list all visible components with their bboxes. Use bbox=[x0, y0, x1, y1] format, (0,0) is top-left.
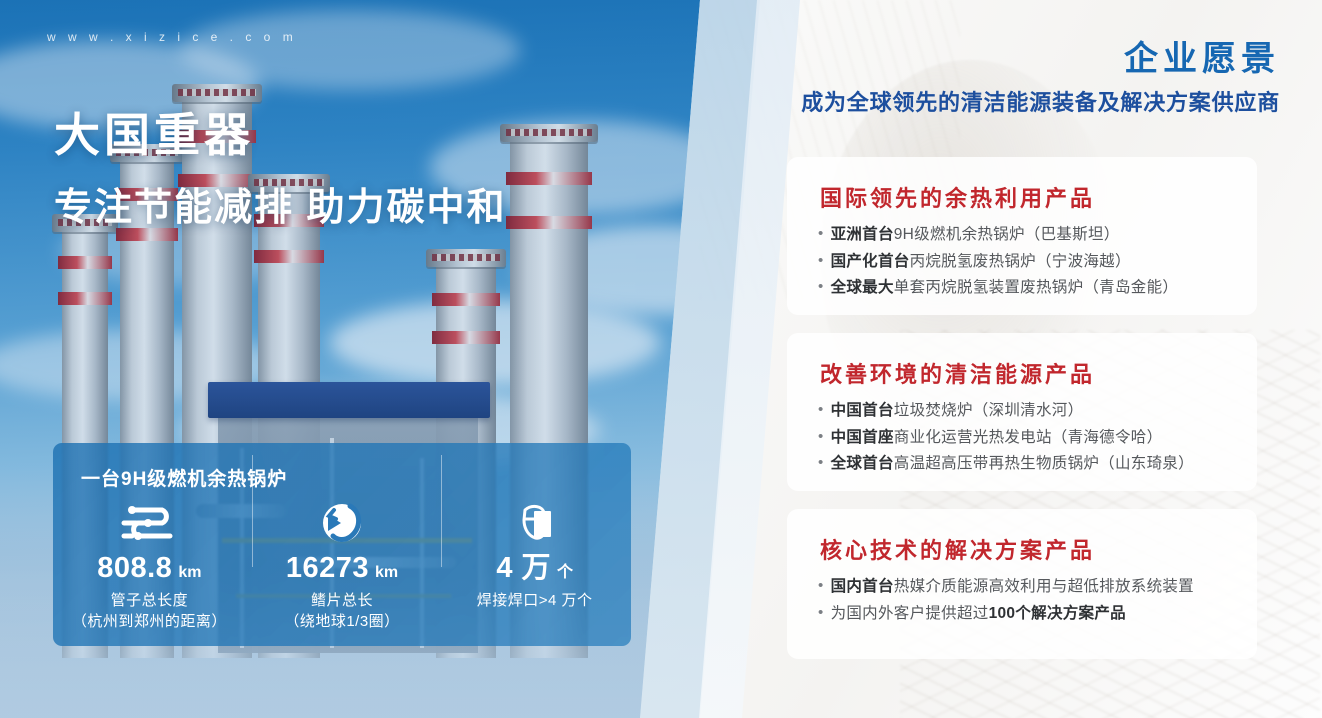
bullet-text: 为国内外客户提供超过 bbox=[831, 605, 989, 622]
stat-label: 管子总长度 （杭州到郑州的距离） bbox=[72, 590, 227, 633]
subheadline: 专注节能减排 助力碳中和 bbox=[54, 176, 507, 231]
card-title: 国际领先的余热利用产品 bbox=[820, 181, 1095, 213]
list-item: •为国内外客户提供超过100个解决方案产品 bbox=[818, 602, 1241, 626]
bullet-strong: 国产化首台 bbox=[831, 253, 910, 270]
stat-value: 808.8 bbox=[97, 554, 172, 583]
stat-value-group: 4 万 个 bbox=[496, 554, 573, 583]
vision-title: 企业愿景 bbox=[1124, 31, 1280, 80]
bullet-dot-icon: • bbox=[818, 426, 824, 448]
stat-label-line1: 管子总长度 bbox=[72, 590, 227, 611]
card-bullet-list: •亚洲首台9H级燃机余热锅炉（巴基斯坦） •国产化首台丙烷脱氢废热锅炉（宁波海越… bbox=[818, 223, 1241, 303]
bullet-dot-icon: • bbox=[818, 223, 824, 245]
bullet-strong: 中国首座 bbox=[831, 429, 894, 446]
vision-subtitle: 成为全球领先的清洁能源装备及解决方案供应商 bbox=[801, 85, 1280, 117]
stats-panel-title: 一台9H级燃机余热锅炉 bbox=[81, 464, 287, 491]
list-item: •国产化首台丙烷脱氢废热锅炉（宁波海越） bbox=[818, 250, 1241, 274]
stat-value: 4 万 bbox=[496, 554, 551, 583]
globe-arrow-icon bbox=[320, 500, 364, 546]
stat-value-group: 16273 km bbox=[286, 554, 398, 583]
stat-label-line1: 焊接焊口>4 万个 bbox=[477, 590, 593, 611]
bullet-strong: 国内首台 bbox=[831, 578, 894, 595]
product-card-3: 核心技术的解决方案产品 •国内首台热媒介质能源高效利用与超低排放系统装置 •为国… bbox=[787, 509, 1257, 659]
bullet-text: 垃圾焚烧炉（深圳清水河） bbox=[894, 402, 1084, 419]
bullet-dot-icon: • bbox=[818, 452, 824, 474]
stat-value-group: 808.8 km bbox=[97, 554, 201, 583]
card-title: 核心技术的解决方案产品 bbox=[820, 533, 1095, 565]
bullet-dot-icon: • bbox=[818, 276, 824, 298]
stat-value: 16273 bbox=[286, 554, 369, 583]
bullet-strong: 全球最大 bbox=[831, 279, 894, 296]
bullet-text: 单套丙烷脱氢装置废热锅炉（青岛金能） bbox=[894, 279, 1178, 296]
card-bullet-list: •国内首台热媒介质能源高效利用与超低排放系统装置 •为国内外客户提供超过100个… bbox=[818, 575, 1241, 628]
stat-item-pipe-length: 808.8 km 管子总长度 （杭州到郑州的距离） bbox=[53, 498, 246, 646]
bullet-strong: 全球首台 bbox=[831, 455, 894, 472]
stat-item-fin-length: 16273 km 鳍片总长 （绕地球1/3圈） bbox=[246, 498, 439, 646]
bullet-dot-icon: • bbox=[818, 250, 824, 272]
bullet-text: 热媒介质能源高效利用与超低排放系统装置 bbox=[894, 578, 1194, 595]
slide-root: w w w . x i z i c e . c o m 大国重器 专注节能减排 … bbox=[0, 0, 1322, 718]
stat-label: 焊接焊口>4 万个 bbox=[477, 590, 593, 611]
stat-label-line2: （绕地球1/3圈） bbox=[284, 611, 399, 632]
stat-unit: km bbox=[178, 565, 201, 581]
product-card-1: 国际领先的余热利用产品 •亚洲首台9H级燃机余热锅炉（巴基斯坦） •国产化首台丙… bbox=[787, 157, 1257, 315]
welding-helmet-icon bbox=[513, 500, 557, 546]
bullet-text: 商业化运营光热发电站（青海德令哈） bbox=[894, 429, 1163, 446]
stat-row: 808.8 km 管子总长度 （杭州到郑州的距离） bbox=[53, 498, 631, 646]
card-bullet-list: •中国首台垃圾焚烧炉（深圳清水河） •中国首座商业化运营光热发电站（青海德令哈）… bbox=[818, 399, 1241, 479]
list-item: •中国首座商业化运营光热发电站（青海德令哈） bbox=[818, 426, 1241, 450]
bullet-text: 9H级燃机余热锅炉（巴基斯坦） bbox=[894, 226, 1120, 243]
stats-panel: 一台9H级燃机余热锅炉 808.8 km bbox=[53, 443, 631, 646]
winding-pipe-icon bbox=[118, 500, 180, 546]
stat-label-line2: （杭州到郑州的距离） bbox=[72, 611, 227, 632]
website-watermark: w w w . x i z i c e . c o m bbox=[47, 30, 297, 44]
stat-unit: 个 bbox=[557, 565, 573, 581]
stat-label-line1: 鳍片总长 bbox=[284, 590, 399, 611]
stat-item-weld-joints: 4 万 个 焊接焊口>4 万个 bbox=[438, 498, 631, 646]
bullet-strong: 中国首台 bbox=[831, 402, 894, 419]
bullet-dot-icon: • bbox=[818, 399, 824, 421]
list-item: •国内首台热媒介质能源高效利用与超低排放系统装置 bbox=[818, 575, 1241, 599]
headline: 大国重器 bbox=[54, 99, 254, 165]
card-title: 改善环境的清洁能源产品 bbox=[820, 357, 1095, 389]
list-item: •亚洲首台9H级燃机余热锅炉（巴基斯坦） bbox=[818, 223, 1241, 247]
product-card-2: 改善环境的清洁能源产品 •中国首台垃圾焚烧炉（深圳清水河） •中国首座商业化运营… bbox=[787, 333, 1257, 491]
stat-label: 鳍片总长 （绕地球1/3圈） bbox=[284, 590, 399, 633]
bullet-strong: 亚洲首台 bbox=[831, 226, 894, 243]
stat-unit: km bbox=[375, 565, 398, 581]
bullet-dot-icon: • bbox=[818, 602, 824, 624]
bullet-text: 高温超高压带再热生物质锅炉（山东琦泉） bbox=[894, 455, 1194, 472]
list-item: •中国首台垃圾焚烧炉（深圳清水河） bbox=[818, 399, 1241, 423]
bullet-strong-2: 100个解决方案产品 bbox=[989, 605, 1126, 622]
list-item: •全球最大单套丙烷脱氢装置废热锅炉（青岛金能） bbox=[818, 276, 1241, 300]
bullet-dot-icon: • bbox=[818, 575, 824, 597]
bullet-text: 丙烷脱氢废热锅炉（宁波海越） bbox=[910, 253, 1131, 270]
list-item: •全球首台高温超高压带再热生物质锅炉（山东琦泉） bbox=[818, 452, 1241, 476]
